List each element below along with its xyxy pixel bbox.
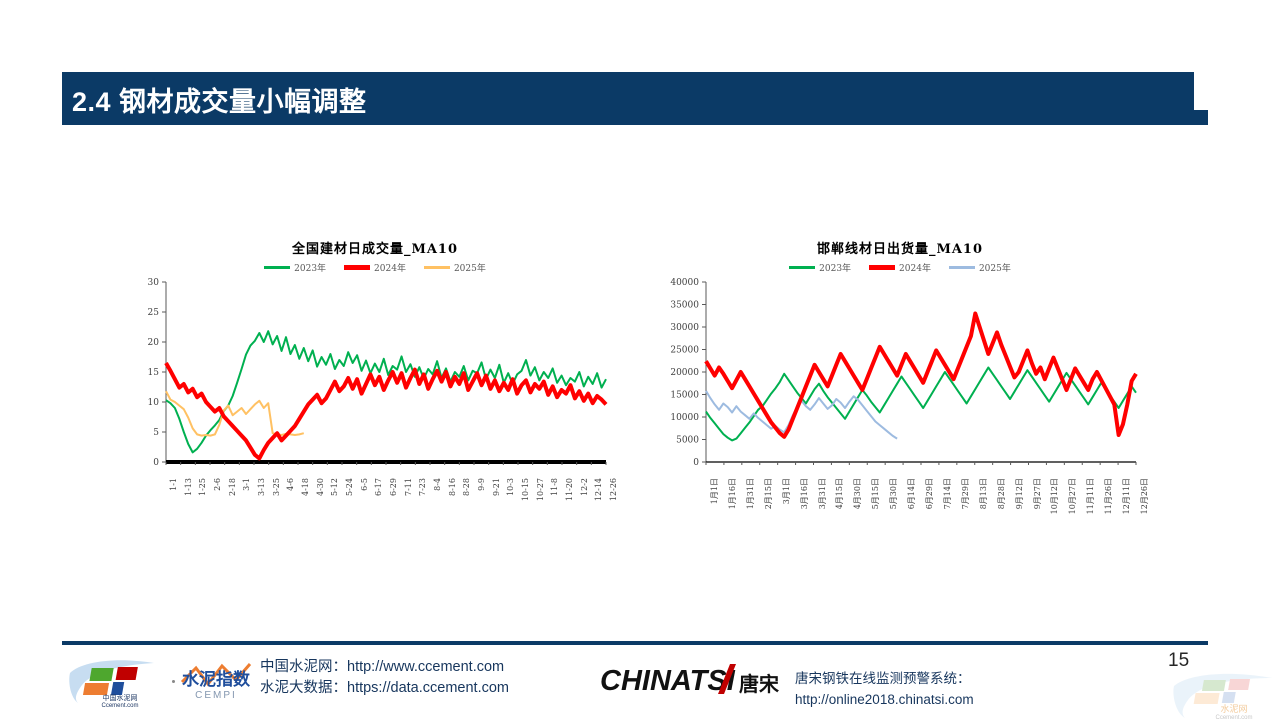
x-axis-tick-label: 3-25 [272, 478, 281, 496]
x-axis-tick-label: 11月26日 [1103, 478, 1114, 514]
chart-handan-wire-rod: 邯郸线材日出货量_MA10 2023年2024年2025年 0500010000… [660, 238, 1140, 538]
x-axis-tick-label: 2-18 [228, 478, 237, 496]
x-axis-tick-label: 3月31日 [817, 478, 828, 509]
series-line-2024年 [706, 314, 1136, 437]
x-axis-tick-label: 8-16 [448, 478, 457, 496]
x-axis-tick-label: 5月30日 [888, 478, 899, 509]
footer-link-ccement-data[interactable]: 水泥大数据：https://data.ccement.com [260, 678, 509, 699]
legend-swatch-icon [264, 266, 290, 269]
x-axis-tick-label: 7-11 [404, 478, 413, 496]
x-axis-tick-label: 1-1 [169, 478, 178, 491]
chinatsi-logo-cn: 唐宋 [739, 672, 779, 696]
x-axis-tick-label: 3月16日 [799, 478, 810, 509]
x-axis-tick-label: 9-9 [477, 478, 486, 491]
watermark-logo: 水泥网 Ccement.com [1172, 668, 1280, 720]
x-axis-tick-label: 8-4 [433, 478, 442, 491]
slide-root: 2.4 钢材成交量小幅调整 全国建材日成交量_MA10 2023年2024年20… [0, 0, 1280, 720]
x-axis-tick-label: 9-21 [492, 478, 501, 496]
x-axis-tick-label: 1月16日 [727, 478, 738, 509]
ccement-logo-cn: 中国水泥网 [103, 693, 138, 702]
x-axis-tick-label: 1-25 [198, 478, 207, 496]
x-axis-tick-label: 11-8 [550, 478, 559, 496]
x-axis-tick-label: 6-29 [389, 478, 398, 496]
plot-area-right: 0500010000150002000025000300003500040000… [660, 276, 1140, 528]
legend-item-2023年: 2023年 [789, 261, 851, 274]
x-axis-labels-right: 1月1日1月16日1月31日2月15日3月1日3月16日3月31日4月15日4月… [660, 476, 1140, 528]
chart-legend-right: 2023年2024年2025年 [660, 260, 1140, 274]
chinatsi-logo-text: CHINATSI [600, 665, 736, 697]
chart-national-building-materials: 全国建材日成交量_MA10 2023年2024年2025年 0510152025… [140, 238, 610, 538]
x-axis-tick-label: 8-28 [462, 478, 471, 496]
x-axis-tick-label: 6月29日 [924, 478, 935, 509]
legend-item-2024年: 2024年 [869, 261, 931, 274]
x-axis-tick-label: 3月1日 [781, 478, 792, 504]
x-axis-tick-label: 12-26 [609, 478, 618, 501]
x-axis-tick-label: 10月12日 [1049, 478, 1060, 514]
legend-item-2025年: 2025年 [424, 261, 486, 274]
cempi-logo-en: CEMPI [195, 690, 237, 701]
x-axis-tick-label: 7-23 [418, 478, 427, 496]
watermark-logo-en: Ccement.com [1215, 715, 1252, 720]
legend-swatch-icon [789, 266, 815, 269]
legend-item-2023年: 2023年 [264, 261, 326, 274]
y-axis-tick-label: 15 [148, 368, 160, 378]
y-axis-tick-label: 5 [153, 428, 159, 438]
legend-label: 2023年 [294, 261, 326, 274]
x-axis-tick-label: 7月29日 [960, 478, 971, 509]
x-axis-tick-label: 7月14日 [942, 478, 953, 509]
legend-item-2024年: 2024年 [344, 261, 406, 274]
chart-legend-left: 2023年2024年2025年 [140, 260, 610, 274]
y-axis-tick-label: 5000 [676, 436, 699, 446]
x-axis-tick-label: 9月27日 [1032, 478, 1043, 509]
y-axis-tick-label: 35000 [670, 301, 699, 311]
y-axis-tick-label: 25 [148, 308, 160, 318]
legend-label: 2024年 [374, 261, 406, 274]
x-axis-tick-label: 10-27 [536, 478, 545, 501]
legend-label: 2024年 [899, 261, 931, 274]
title-banner-step [1194, 110, 1208, 125]
watermark-logo-cn: 水泥网 [1220, 703, 1247, 714]
x-axis-tick-label: 6-5 [360, 478, 369, 491]
x-axis-tick-label: 10月27日 [1067, 478, 1078, 514]
y-axis-tick-label: 30000 [670, 323, 699, 333]
y-axis-tick-label: 20 [148, 338, 160, 348]
x-axis-tick-label: 10-3 [506, 478, 515, 496]
footer-divider [62, 641, 1208, 645]
x-axis-tick-label: 11-20 [565, 478, 574, 501]
legend-label: 2023年 [819, 261, 851, 274]
legend-swatch-icon [949, 266, 975, 269]
x-axis-tick-label: 12-2 [580, 478, 589, 496]
y-axis-tick-label: 40000 [670, 278, 699, 288]
legend-swatch-icon [424, 266, 450, 269]
y-axis-tick-label: 0 [153, 458, 159, 468]
x-axis-tick-label: 4月15日 [834, 478, 845, 509]
x-axis-tick-label: 6-17 [374, 478, 383, 496]
footer-label-chinatsi: 唐宋钢铁在线监测预警系统： [795, 668, 974, 689]
page-title: 2.4 钢材成交量小幅调整 [72, 80, 367, 119]
x-axis-labels-left: 1-11-131-252-62-183-13-133-254-64-184-30… [140, 476, 610, 528]
x-axis-tick-label: 2月15日 [763, 478, 774, 509]
footer-link-chinatsi-url[interactable]: http://online2018.chinatsi.com [795, 689, 974, 710]
legend-swatch-icon [869, 265, 895, 270]
y-axis-tick-label: 20000 [670, 368, 699, 378]
legend-swatch-icon [344, 265, 370, 270]
x-axis-tick-label: 8月28日 [996, 478, 1007, 509]
x-axis-tick-label: 6月14日 [906, 478, 917, 509]
footer-links-chinatsi: 唐宋钢铁在线监测预警系统： http://online2018.chinatsi… [795, 668, 974, 710]
x-axis-tick-label: 5-12 [330, 478, 339, 496]
cempi-logo: 水泥指数 CEMPI [178, 658, 254, 704]
y-axis-tick-label: 15000 [670, 391, 699, 401]
y-axis-tick-label: 0 [693, 458, 699, 468]
y-axis-tick-label: 25000 [670, 346, 699, 356]
footer-links-ccement: 中国水泥网：http://www.ccement.com 水泥大数据：https… [260, 657, 509, 699]
chinatsi-logo: CHINATSI 唐宋 [600, 660, 790, 700]
legend-label: 2025年 [979, 261, 1011, 274]
ccement-logo-en: Ccement.com [101, 703, 138, 707]
x-axis-tick-label: 3-13 [257, 478, 266, 496]
x-axis-tick-label: 4-6 [286, 478, 295, 491]
x-axis-tick-label: 5-24 [345, 478, 354, 496]
logo-separator-dot [172, 680, 175, 683]
y-axis-tick-label: 10 [148, 398, 160, 408]
x-axis-tick-label: 1-13 [184, 478, 193, 496]
x-axis-tick-label: 4月30日 [852, 478, 863, 509]
chart-title-left: 全国建材日成交量_MA10 [140, 238, 610, 257]
ccement-logo: 中国水泥网 Ccement.com [68, 655, 173, 707]
x-axis-tick-label: 11月11日 [1085, 478, 1096, 514]
footer-link-ccement-site[interactable]: 中国水泥网：http://www.ccement.com [260, 657, 509, 678]
x-axis-tick-label: 1月31日 [745, 478, 756, 509]
x-axis-tick-label: 10-15 [521, 478, 530, 501]
x-axis-tick-label: 9月12日 [1014, 478, 1025, 509]
legend-label: 2025年 [454, 261, 486, 274]
series-line-2023年 [166, 331, 606, 452]
x-axis-tick-label: 12月26日 [1139, 478, 1150, 514]
x-axis-tick-label: 8月13日 [978, 478, 989, 509]
y-axis-tick-label: 10000 [670, 413, 699, 423]
plot-svg-right: 0500010000150002000025000300003500040000 [660, 276, 1140, 476]
x-axis-tick-label: 12-14 [594, 478, 603, 501]
plot-svg-left: 051015202530 [140, 276, 610, 476]
chart-title-right: 邯郸线材日出货量_MA10 [660, 238, 1140, 257]
plot-area-left: 051015202530 1-11-131-252-62-183-13-133-… [140, 276, 610, 528]
x-axis-tick-label: 1月1日 [709, 478, 720, 504]
x-axis-tick-label: 4-30 [316, 478, 325, 496]
y-axis-tick-label: 30 [148, 278, 160, 288]
legend-item-2025年: 2025年 [949, 261, 1011, 274]
x-axis-tick-label: 5月15日 [870, 478, 881, 509]
x-axis-tick-label: 2-6 [213, 478, 222, 491]
x-axis-tick-label: 4-18 [301, 478, 310, 496]
cempi-logo-cn: 水泥指数 [182, 669, 251, 689]
x-axis-tick-label: 12月11日 [1121, 478, 1132, 514]
x-axis-tick-label: 3-1 [242, 478, 251, 491]
